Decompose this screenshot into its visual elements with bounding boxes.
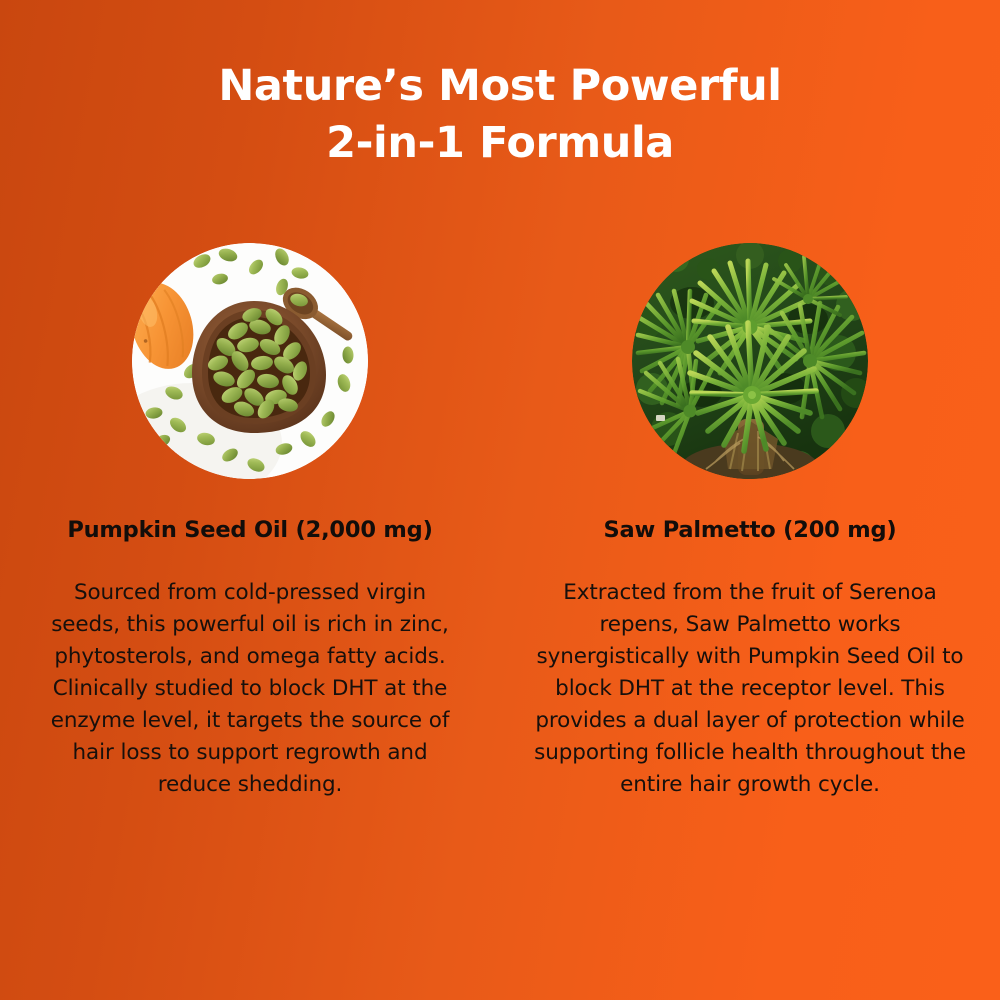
ingredient-title-pumpkin-seed-oil: Pumpkin Seed Oil (2,000 mg) bbox=[67, 516, 432, 544]
ingredient-columns: Pumpkin Seed Oil (2,000 mg) Sourced from… bbox=[0, 243, 1000, 801]
headline-line-2: 2-in-1 Formula bbox=[0, 115, 1000, 172]
ingredient-card-pumpkin-seed-oil: Pumpkin Seed Oil (2,000 mg) Sourced from… bbox=[0, 243, 500, 801]
ingredient-description-saw-palmetto: Extracted from the fruit of Serenoa repe… bbox=[532, 577, 968, 801]
ingredient-title-saw-palmetto: Saw Palmetto (200 mg) bbox=[603, 516, 896, 544]
ingredient-card-saw-palmetto: Saw Palmetto (200 mg) Extracted from the… bbox=[500, 243, 1000, 801]
saw-palmetto-photo bbox=[632, 243, 868, 479]
headline-line-1: Nature’s Most Powerful bbox=[0, 58, 1000, 115]
infographic-poster: Nature’s Most Powerful 2-in-1 Formula bbox=[0, 0, 1000, 1000]
ingredient-description-pumpkin-seed-oil: Sourced from cold-pressed virgin seeds, … bbox=[38, 577, 462, 801]
page-title: Nature’s Most Powerful 2-in-1 Formula bbox=[0, 58, 1000, 172]
pumpkin-seed-oil-photo bbox=[132, 243, 368, 479]
